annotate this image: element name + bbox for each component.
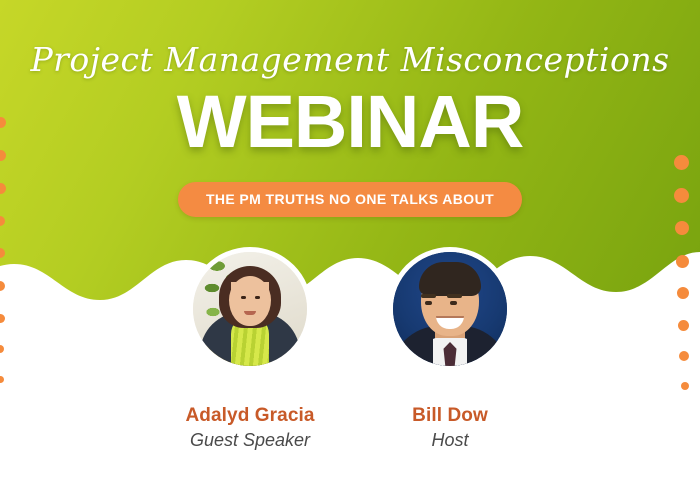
right-eyebrow (447, 294, 462, 298)
decorative-dot (675, 221, 689, 235)
left-eyebrow (421, 294, 436, 298)
page-title: WEBINAR (0, 78, 700, 159)
decorative-dot (0, 216, 5, 226)
left-eye (425, 301, 432, 305)
script-subtitle: Project Management Misconceptions (0, 0, 700, 78)
speakers-row: Adalyd Gracia Guest Speaker (0, 247, 700, 451)
headline-block: Project Management Misconceptions WEBINA… (0, 0, 700, 217)
speaker-role: Host (374, 427, 526, 451)
avatar-ring (388, 247, 512, 371)
right-eye (255, 296, 260, 299)
avatar-ring (188, 247, 312, 371)
tagline-badge: THE PM TRUTHS NO ONE TALKS ABOUT (178, 182, 522, 217)
badge-wrapper: THE PM TRUTHS NO ONE TALKS ABOUT (0, 182, 700, 217)
speaker-name: Bill Dow (374, 371, 526, 427)
speaker-name: Adalyd Gracia (174, 371, 326, 427)
speaker-card: Adalyd Gracia Guest Speaker (174, 247, 326, 451)
speaker-role: Guest Speaker (174, 427, 326, 451)
hair-shape (419, 262, 481, 296)
speaker-card: Bill Dow Host (374, 247, 526, 451)
right-eye (450, 301, 457, 305)
left-eye (241, 296, 246, 299)
avatar (193, 252, 307, 366)
webinar-poster: Project Management Misconceptions WEBINA… (0, 0, 700, 496)
avatar (393, 252, 507, 366)
